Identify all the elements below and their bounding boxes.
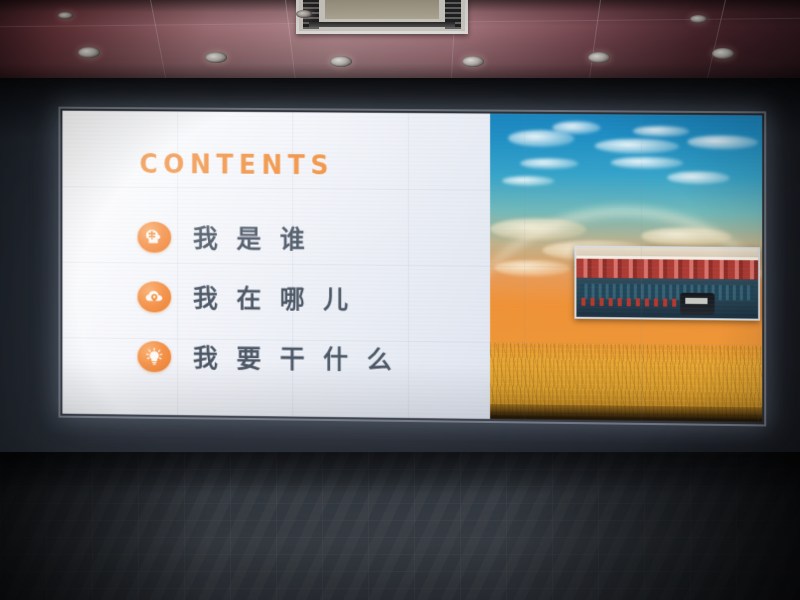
cloud-location-icon bbox=[137, 281, 171, 312]
inset-van-window bbox=[685, 298, 707, 304]
floor-shadow-gradient bbox=[0, 452, 800, 600]
ac-vent-slot bbox=[309, 22, 455, 27]
toc-item-label: 我 是 谁 bbox=[193, 219, 310, 256]
toc-item-label: 我 要 干 什 么 bbox=[193, 339, 397, 377]
ceiling-downlight bbox=[588, 52, 610, 63]
ceiling-downlight bbox=[330, 56, 352, 67]
ceiling-downlight bbox=[58, 12, 73, 19]
slide-photo-column bbox=[490, 114, 762, 423]
brain-head-icon bbox=[137, 221, 171, 252]
toc-item-3[interactable]: 我 要 干 什 么 bbox=[137, 338, 396, 377]
ceiling-downlight bbox=[462, 56, 484, 67]
air-conditioner-vent bbox=[296, 0, 468, 34]
presentation-slide: CONTENTS bbox=[62, 111, 762, 423]
conference-room-scene: CONTENTS bbox=[0, 0, 800, 600]
cloud bbox=[633, 126, 690, 137]
ceiling-downlight bbox=[296, 10, 312, 18]
slide-text-column: CONTENTS bbox=[62, 111, 490, 419]
ceiling-downlight bbox=[78, 47, 100, 58]
venue-ceremony-inset-photo bbox=[574, 246, 760, 321]
led-video-wall[interactable]: CONTENTS bbox=[62, 111, 762, 423]
page-title: CONTENTS bbox=[139, 149, 334, 181]
lightbulb-idea-icon bbox=[137, 340, 171, 371]
ceiling-downlight bbox=[205, 52, 227, 63]
ceiling-downlight bbox=[690, 15, 707, 23]
sunset-wheat-field-photo bbox=[490, 114, 762, 423]
toc-item-2[interactable]: 我 在 哪 儿 bbox=[137, 278, 396, 317]
table-of-contents: 我 是 谁 我 在 哪 儿 bbox=[137, 219, 396, 401]
inset-red-seating-row bbox=[582, 297, 676, 306]
cloud bbox=[552, 121, 600, 134]
toc-item-label: 我 在 哪 儿 bbox=[193, 279, 353, 317]
ac-vent-inner-panel bbox=[325, 0, 439, 19]
ceiling-downlight bbox=[712, 48, 734, 59]
toc-item-1[interactable]: 我 是 谁 bbox=[137, 219, 396, 257]
